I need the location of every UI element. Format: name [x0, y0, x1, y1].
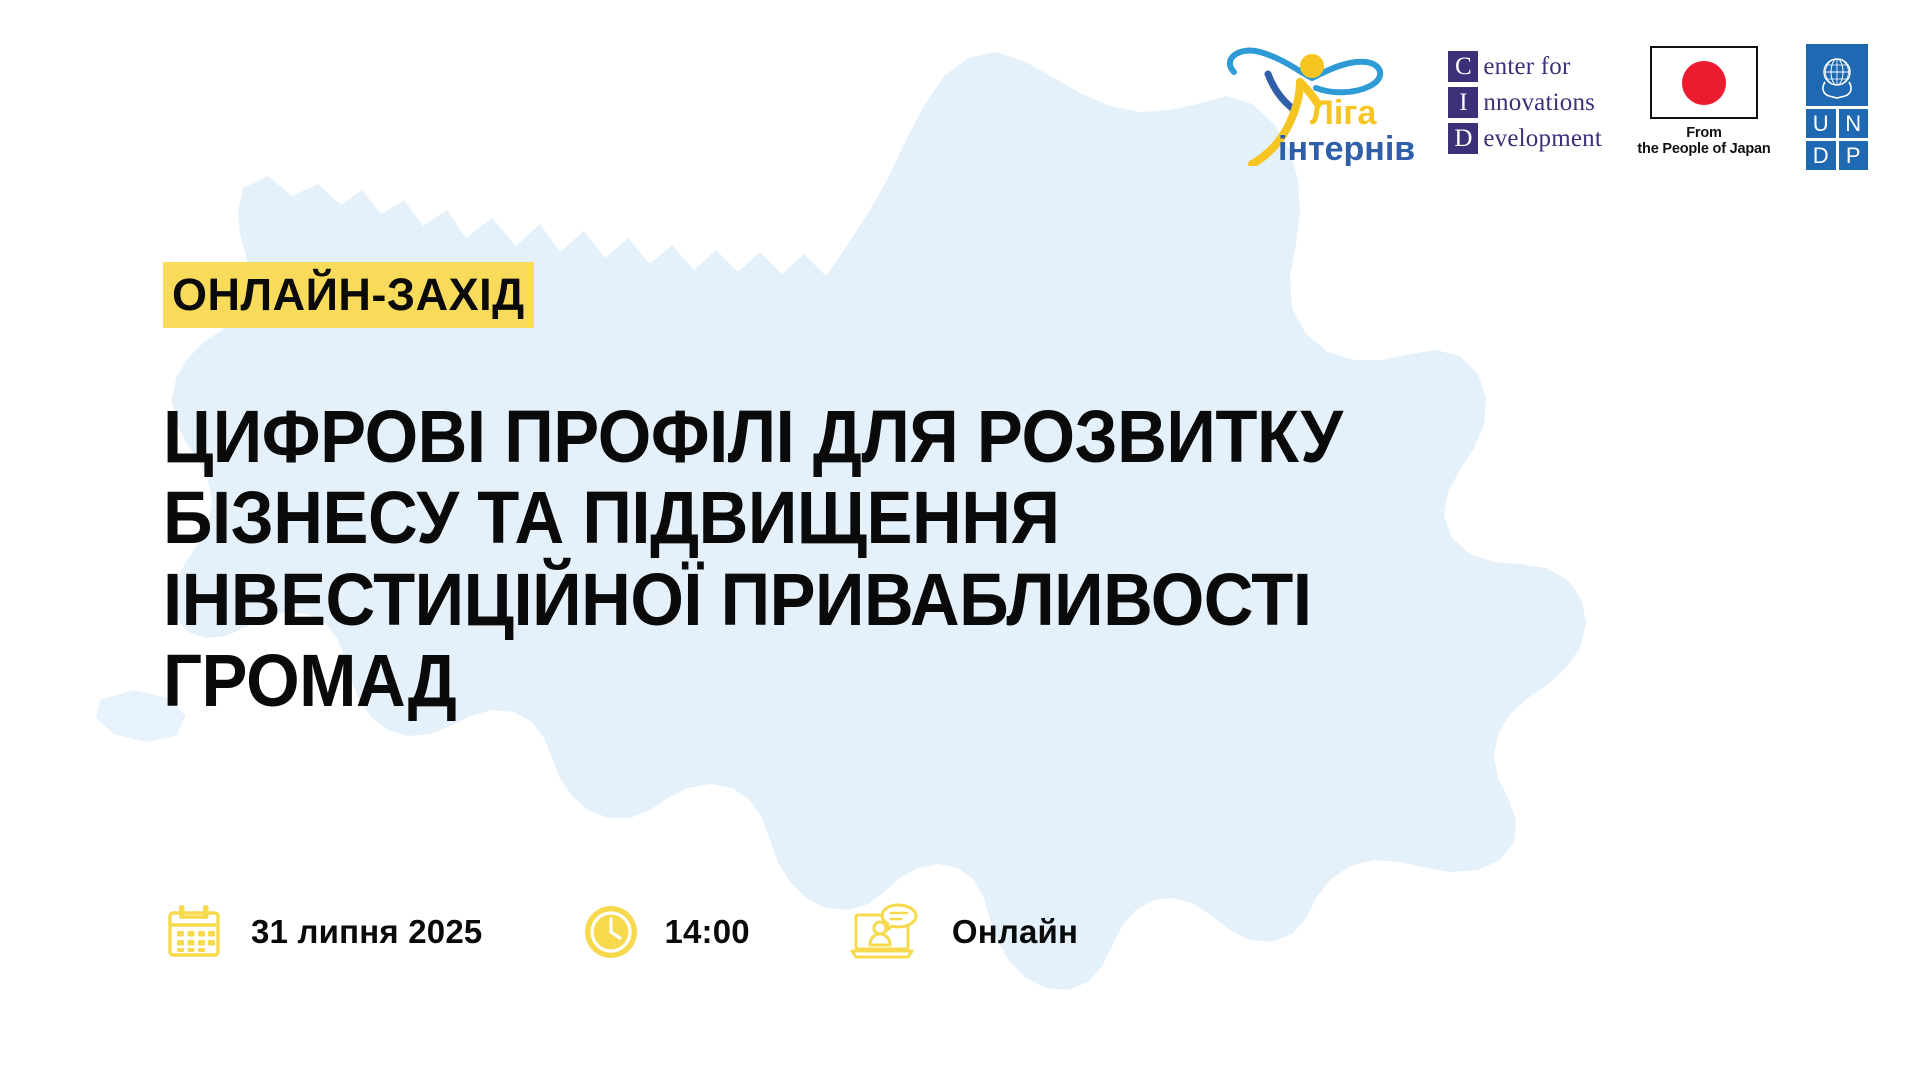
cid-word-development: evelopment — [1483, 123, 1602, 154]
clock-icon — [580, 898, 642, 966]
undp-letter-n: N — [1839, 109, 1869, 138]
cid-row: D evelopment — [1448, 122, 1602, 155]
undp-logo: U N D P — [1806, 38, 1868, 170]
cid-word-innovations: nnovations — [1483, 87, 1595, 118]
cid-initial-i: I — [1448, 87, 1478, 118]
undp-letter-d: D — [1806, 141, 1836, 170]
undp-letter-u: U — [1806, 109, 1836, 138]
undp-letter-p: P — [1839, 141, 1869, 170]
event-time-value: 14:00 — [664, 913, 749, 951]
cid-initial-d: D — [1448, 123, 1478, 154]
japan-caption-line1: From — [1637, 125, 1770, 141]
event-type-badge: ОНЛАЙН-ЗАХІД — [163, 262, 534, 328]
title-line-1: ЦИФРОВІ ПРОФІЛІ ДЛЯ РОЗВИТКУ — [163, 396, 1614, 477]
un-emblem-icon — [1806, 44, 1868, 106]
japan-flag-icon — [1650, 46, 1758, 119]
japan-caption: From the People of Japan — [1637, 125, 1770, 157]
cid-initial-c: C — [1448, 51, 1478, 82]
event-poster: Ліга інтернів C enter for I nnovations D… — [0, 0, 1920, 1080]
event-date: 31 липня 2025 — [163, 898, 482, 966]
event-meta-row: 31 липня 2025 14:00 — [163, 898, 1078, 966]
title-line-3: ІНВЕСТИЦІЙНОЇ ПРИВАБЛИВОСТІ — [163, 559, 1614, 640]
japan-caption-line2: the People of Japan — [1637, 141, 1770, 157]
page-title: ЦИФРОВІ ПРОФІЛІ ДЛЯ РОЗВИТКУ БІЗНЕСУ ТА … — [163, 396, 1614, 722]
cid-word-center-for: enter for — [1483, 51, 1570, 82]
partner-logo-strip: Ліга інтернів C enter for I nnovations D… — [1216, 38, 1868, 170]
svg-text:Ліга: Ліга — [1310, 94, 1377, 132]
event-place-value: Онлайн — [952, 913, 1078, 951]
cid-row: C enter for — [1448, 50, 1602, 83]
title-line-2: БІЗНЕСУ ТА ПІДВИЩЕННЯ — [163, 477, 1614, 558]
cid-row: I nnovations — [1448, 86, 1602, 119]
online-webinar-icon — [848, 898, 932, 966]
svg-text:інтернів: інтернів — [1278, 130, 1414, 166]
event-time: 14:00 — [580, 898, 749, 966]
event-place: Онлайн — [848, 898, 1078, 966]
liga-interniv-logo: Ліга інтернів — [1216, 38, 1414, 166]
event-date-value: 31 липня 2025 — [251, 913, 482, 951]
calendar-icon — [163, 898, 225, 966]
japan-sun-disc — [1682, 61, 1726, 105]
japan-flag-logo: From the People of Japan — [1636, 38, 1772, 157]
center-for-innovations-development-logo: C enter for I nnovations D evelopment — [1448, 38, 1602, 155]
undp-letter-grid: U N D P — [1806, 109, 1868, 170]
title-line-4: ГРОМАД — [163, 640, 1614, 721]
